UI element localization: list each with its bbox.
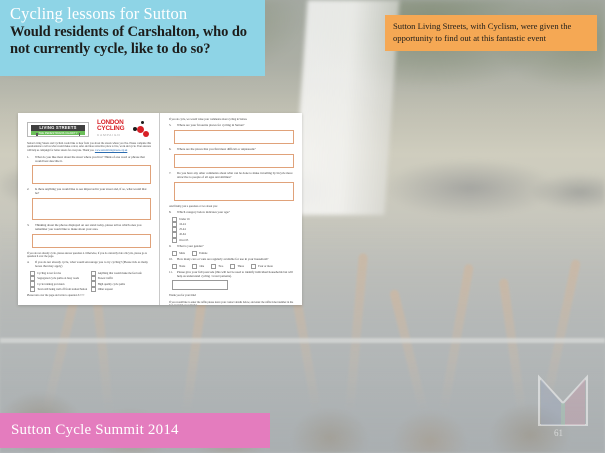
question-text: Where are the places that you find most … [177, 148, 256, 152]
question-number: 8. [169, 211, 174, 215]
raffle-note: If you would like to enter the raffle pl… [169, 301, 294, 305]
survey-question: 1. What do you like most about the stree… [27, 156, 151, 164]
checkbox-option[interactable]: Town still being well off from station/S… [30, 287, 91, 292]
checkbox-icon[interactable] [251, 264, 256, 269]
survey-intro-link[interactable]: www.suttonlivingstreets.org.uk [95, 149, 127, 152]
survey-question: 5. Where are your favourite places for c… [169, 124, 294, 128]
left-column-footer-note: Please turn over the page and write to q… [27, 294, 151, 297]
checkbox-icon[interactable] [211, 264, 216, 269]
checkbox-option[interactable]: Four or more [251, 264, 273, 269]
living-streets-logo-leg [79, 133, 81, 136]
survey-document: LIVING STREETS THE PEDESTRIANS CHARITY L… [18, 113, 302, 305]
survey-question: 3. Thinking about the photos displayed o… [27, 224, 151, 232]
survey-question: 2. Is there anything you would like to s… [27, 188, 151, 196]
question-text: Is there anything you would like to see … [35, 188, 151, 196]
survey-question: 9. What is your gender? [169, 245, 294, 249]
checkbox-label: One [199, 264, 204, 269]
checkbox-label: Over 65 [179, 238, 188, 243]
title-block: Cycling lessons for Sutton Would residen… [0, 0, 265, 76]
question-text: How many cars or vans are regularly avai… [177, 258, 268, 262]
checkbox-label: Female [199, 251, 207, 256]
survey-question: 10. How many cars or vans are regularly … [169, 258, 294, 262]
question-number: 4. [27, 261, 32, 269]
footer-title: Sutton Cycle Summit 2014 [0, 413, 270, 448]
lcc-wheel-dots-icon [132, 121, 150, 138]
survey-question: 4. If you do not already cycle, what wou… [27, 261, 151, 269]
living-streets-logo-leg [36, 133, 38, 136]
checkbox-option[interactable]: Male [172, 251, 185, 256]
checkbox-icon[interactable] [192, 264, 197, 269]
question-number: 7. [169, 172, 174, 180]
checkbox-option[interactable]: Over 65 [172, 238, 294, 243]
checkbox-icon[interactable] [91, 287, 96, 292]
checkbox-option[interactable]: Female [192, 251, 207, 256]
answer-field[interactable] [174, 130, 294, 144]
london-cycling-campaign-logo: LONDON CYCLING CAMPAIGN [97, 120, 149, 139]
survey-intro-text: Sutton Living Streets and Cyclism would … [27, 142, 151, 152]
question-text: Thinking about the photos displayed on o… [35, 224, 151, 232]
question-text: Which category below indicates your age? [177, 211, 230, 215]
living-streets-logo: LIVING STREETS THE PEDESTRIANS CHARITY [27, 122, 89, 137]
page-subtitle: Would residents of Carshalton, who do no… [10, 24, 255, 57]
postcode-field[interactable] [172, 280, 228, 290]
checkbox-option[interactable]: Two [211, 264, 223, 269]
corner-logo-icon [535, 373, 591, 435]
question-number: 10. [169, 258, 174, 262]
checkbox-label: Other request [98, 287, 113, 292]
checkbox-option[interactable]: Three [230, 264, 244, 269]
survey-right-column: If you do cycle, we would value your com… [160, 113, 302, 305]
callout-box: Sutton Living Streets, with Cyclism, wer… [385, 15, 597, 51]
question-text: What is your gender? [177, 245, 204, 249]
right-intro-note: If you do cycle, we would value your com… [169, 118, 294, 121]
question-text: Please give your full postcode (this wil… [177, 271, 294, 279]
answer-field[interactable] [32, 198, 151, 220]
question-number: 3. [27, 224, 32, 232]
question-number: 9. [169, 245, 174, 249]
checkbox-label: Town still being well off from station/S… [37, 287, 87, 292]
checkbox-label: Three [237, 264, 244, 269]
survey-question: 7. Do you have any other comments about … [169, 172, 294, 180]
question-number: 1. [27, 156, 32, 164]
survey-question: 6. Where are the places that you find mo… [169, 148, 294, 152]
checkbox-label: Four or more [258, 264, 273, 269]
answer-field[interactable] [174, 182, 294, 201]
slide-canvas: Cycling lessons for Sutton Would residen… [0, 0, 605, 453]
checkbox-icon[interactable] [172, 251, 177, 256]
question-number: 6. [169, 148, 174, 152]
q4-checkbox-group: Cycling is not for me Anything that woul… [30, 271, 151, 292]
question-text: If you do not already cycle, what would … [35, 261, 151, 269]
checkbox-icon[interactable] [172, 238, 177, 243]
question-text: Where are your favourite places for cycl… [177, 124, 244, 128]
checkbox-label: Male [179, 251, 185, 256]
question-number: 5. [169, 124, 174, 128]
cycle-prompt-note: If you do not already cycle, please answ… [27, 252, 151, 259]
checkbox-icon[interactable] [30, 287, 35, 292]
survey-question: 8. Which category below indicates your a… [169, 211, 294, 215]
gender-checkbox-group: Male Female [172, 251, 294, 256]
page-title: Cycling lessons for Sutton [10, 4, 255, 23]
survey-intro: Sutton Living Streets and Cyclism would … [27, 142, 151, 152]
checkbox-option[interactable]: One [192, 264, 204, 269]
answer-field[interactable] [32, 234, 151, 248]
thanks-note: Thank you for your time! [169, 294, 294, 297]
answer-field[interactable] [32, 165, 151, 184]
checkbox-icon[interactable] [230, 264, 235, 269]
footer-bar: Sutton Cycle Summit 2014 [0, 413, 270, 448]
survey-question: 11. Please give your full postcode (this… [169, 271, 294, 279]
car-ownership-checkbox-group: None One Two Three Four or more [172, 264, 294, 269]
age-checkbox-group: Under 16 16-24 25-44 45-64 Over 65 [172, 217, 294, 243]
answer-field[interactable] [174, 154, 294, 168]
question-text: Do you have any other comments about wha… [177, 172, 294, 180]
checkbox-option[interactable]: Other request [91, 287, 152, 292]
checkbox-icon[interactable] [172, 264, 177, 269]
checkbox-icon[interactable] [192, 251, 197, 256]
survey-logos: LIVING STREETS THE PEDESTRIANS CHARITY L… [27, 120, 149, 139]
question-number: 11. [169, 271, 174, 279]
survey-left-column: LIVING STREETS THE PEDESTRIANS CHARITY L… [18, 113, 160, 305]
about-you-heading: And finally, just a question or two abou… [169, 205, 294, 208]
checkbox-label: None [179, 264, 185, 269]
living-streets-logo-tagline: THE PEDESTRIANS CHARITY [31, 131, 85, 135]
checkbox-option[interactable]: None [172, 264, 185, 269]
question-text: What do you like most about the street w… [35, 156, 151, 164]
page-number: 61 [554, 428, 563, 438]
question-number: 2. [27, 188, 32, 196]
checkbox-label: Two [218, 264, 223, 269]
